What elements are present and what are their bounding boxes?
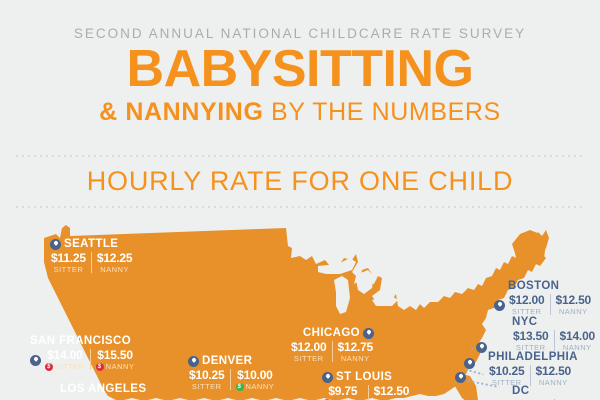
sitter-amount: $10.25 bbox=[489, 364, 525, 378]
city-name: SEATTLE bbox=[64, 238, 118, 251]
chicago-rates: $12.00 SITTER $12.75 NANNY bbox=[290, 340, 374, 364]
rate-separator bbox=[91, 252, 92, 273]
boston-sitter-col: $12.00 SITTER bbox=[508, 293, 546, 317]
city-name: SAN FRANCISCO bbox=[30, 335, 131, 348]
rate-separator bbox=[530, 365, 531, 386]
map-pin-nyc[interactable] bbox=[476, 342, 487, 353]
boston-rates: $12.00 SITTER $12.50 NANNY bbox=[508, 293, 592, 317]
city-label-los-angeles[interactable]: LOS ANGELES bbox=[60, 383, 146, 396]
nanny-label-text: NANNY bbox=[106, 362, 135, 372]
chicago-name-row: CHICAGO bbox=[290, 327, 374, 340]
denver-name-row: DENVER bbox=[188, 355, 275, 368]
rate-separator bbox=[550, 294, 551, 315]
nanny-amount: $12.50 bbox=[556, 293, 592, 307]
rate-separator bbox=[230, 369, 231, 390]
city-label-seattle[interactable]: SEATTLE $11.25 SITTER $12.25 NANNY bbox=[50, 238, 133, 275]
city-name: LOS ANGELES bbox=[60, 383, 146, 396]
rate-separator bbox=[368, 385, 369, 400]
seattle-sitter-col: $11.25 SITTER bbox=[50, 251, 87, 275]
subtitle-rest: BY THE NUMBERS bbox=[264, 98, 501, 126]
sitter-amount: $13.50 bbox=[513, 329, 549, 343]
city-label-nyc[interactable]: NYC $13.50 SITTER $14.00 NANNY bbox=[512, 316, 596, 353]
nyc-sitter-col: $13.50 SITTER bbox=[512, 329, 550, 353]
nanny-label: $NANNY bbox=[236, 382, 275, 392]
sitter-label: SITTER bbox=[54, 265, 84, 275]
sitter-label: SITTER bbox=[294, 354, 324, 364]
city-name: PHILADELPHIA bbox=[488, 351, 578, 364]
nanny-label: NANNY bbox=[341, 354, 370, 364]
city-name: DC bbox=[512, 385, 529, 398]
map-pin-philadelphia[interactable] bbox=[464, 358, 475, 369]
nanny-label-text: NANNY bbox=[246, 382, 275, 392]
seattle-nanny-col: $12.25 NANNY bbox=[96, 251, 134, 275]
nanny-amount: $15.50 bbox=[97, 348, 133, 362]
nyc-rates: $13.50 SITTER $14.00 NANNY bbox=[512, 329, 596, 353]
map-pin-icon bbox=[30, 355, 41, 366]
nanny-amount: $12.75 bbox=[338, 340, 374, 354]
rate-separator bbox=[332, 341, 333, 362]
nanny-amount: $12.50 bbox=[374, 384, 410, 398]
philadelphia-name-row: PHILADELPHIA bbox=[488, 351, 578, 364]
city-label-san-francisco[interactable]: SAN FRANCISCO $14.00 $SITTER $15.50 $NAN… bbox=[30, 335, 135, 372]
map-pin-icon bbox=[50, 239, 61, 250]
map-pin-icon bbox=[363, 328, 374, 339]
san-francisco-rates: $14.00 $SITTER $15.50 $NANNY bbox=[30, 348, 135, 372]
city-name: BOSTON bbox=[508, 280, 559, 293]
seattle-name-row: SEATTLE bbox=[50, 238, 133, 251]
city-label-dc[interactable]: DC $13.25 SITTER $14.00 NANNY bbox=[512, 385, 596, 400]
sitter-label: SITTER bbox=[192, 382, 222, 392]
map-pin-icon bbox=[188, 356, 199, 367]
city-label-chicago[interactable]: CHICAGO $12.00 SITTER $12.75 NANNY bbox=[290, 327, 374, 364]
sitter-amount: $10.25 bbox=[189, 368, 225, 382]
city-label-philadelphia[interactable]: PHILADELPHIA $10.25 SITTER $12.50 NANNY bbox=[488, 351, 578, 388]
lake-ontario bbox=[396, 286, 416, 296]
sf-sitter-col: $14.00 $SITTER bbox=[44, 348, 86, 372]
nyc-name-row: NYC bbox=[512, 316, 596, 329]
nanny-amount: $10.00 bbox=[237, 368, 273, 382]
rate-up-badge-icon: $ bbox=[45, 363, 53, 371]
city-name: NYC bbox=[512, 316, 537, 329]
nanny-amount: $14.00 bbox=[560, 329, 596, 343]
st-louis-nanny-col: $12.50 NANNY bbox=[373, 384, 411, 400]
sitter-amount: $12.00 bbox=[509, 293, 545, 307]
boston-nanny-col: $12.50 NANNY bbox=[555, 293, 593, 317]
nanny-amount: $12.25 bbox=[97, 251, 133, 265]
subtitle-bold: & NANNYING bbox=[99, 98, 263, 126]
sf-nanny-col: $15.50 $NANNY bbox=[95, 348, 136, 372]
sitter-amount: $11.25 bbox=[51, 251, 86, 265]
dc-name-row: DC bbox=[512, 385, 596, 398]
divider-top bbox=[14, 155, 586, 157]
denver-rates: $10.25 SITTER $10.00 $NANNY bbox=[188, 368, 275, 392]
city-label-boston[interactable]: BOSTON $12.00 SITTER $12.50 NANNY bbox=[508, 280, 592, 317]
divider-bottom bbox=[14, 206, 586, 208]
city-name: ST LOUIS bbox=[336, 371, 392, 384]
sitter-label: $SITTER bbox=[45, 362, 85, 372]
denver-sitter-col: $10.25 SITTER bbox=[188, 368, 226, 392]
city-label-st-louis[interactable]: ST LOUIS $9.75 $SITTER $12.50 NANNY bbox=[322, 371, 410, 400]
chicago-sitter-col: $12.00 SITTER bbox=[290, 340, 328, 364]
sitter-amount: $12.00 bbox=[291, 340, 327, 354]
city-label-denver[interactable]: DENVER $10.25 SITTER $10.00 $NANNY bbox=[188, 355, 275, 392]
rate-separator bbox=[90, 349, 91, 370]
san-francisco-name-row: SAN FRANCISCO bbox=[30, 335, 135, 348]
sitter-amount: $9.75 bbox=[328, 384, 357, 398]
sitter-amount: $14.00 bbox=[47, 348, 83, 362]
seattle-rates: $11.25 SITTER $12.25 NANNY bbox=[50, 251, 133, 275]
sitter-label-text: SITTER bbox=[55, 362, 85, 372]
rate-down-badge-icon: $ bbox=[236, 383, 244, 391]
rate-separator bbox=[554, 330, 555, 351]
nyc-nanny-col: $14.00 NANNY bbox=[559, 329, 597, 353]
st-louis-sitter-col: $9.75 $SITTER bbox=[322, 384, 364, 400]
map-pin-icon bbox=[322, 372, 333, 383]
city-name: DENVER bbox=[202, 355, 252, 368]
los-angeles-name-row: LOS ANGELES bbox=[60, 383, 146, 396]
header: SECOND ANNUAL NATIONAL CHILDCARE RATE SU… bbox=[0, 0, 600, 125]
nanny-amount: $12.50 bbox=[536, 364, 572, 378]
nanny-label: NANNY bbox=[100, 265, 129, 275]
page-title: BABYSITTING bbox=[0, 43, 600, 95]
map-pin-dc[interactable] bbox=[455, 372, 466, 383]
section-title: HOURLY RATE FOR ONE CHILD bbox=[0, 166, 600, 196]
nanny-label: $NANNY bbox=[96, 362, 135, 372]
chicago-nanny-col: $12.75 NANNY bbox=[337, 340, 375, 364]
kicker-text: SECOND ANNUAL NATIONAL CHILDCARE RATE SU… bbox=[0, 26, 600, 41]
boston-name-row: BOSTON bbox=[508, 280, 592, 293]
infographic-canvas: SECOND ANNUAL NATIONAL CHILDCARE RATE SU… bbox=[0, 0, 600, 400]
map-pin-boston[interactable] bbox=[494, 300, 505, 311]
page-subtitle: & NANNYING BY THE NUMBERS bbox=[0, 99, 600, 125]
st-louis-name-row: ST LOUIS bbox=[322, 371, 410, 384]
rate-up-badge-icon: $ bbox=[96, 363, 104, 371]
st-louis-rates: $9.75 $SITTER $12.50 NANNY bbox=[322, 384, 410, 400]
city-name: CHICAGO bbox=[303, 327, 360, 340]
denver-nanny-col: $10.00 $NANNY bbox=[235, 368, 276, 392]
